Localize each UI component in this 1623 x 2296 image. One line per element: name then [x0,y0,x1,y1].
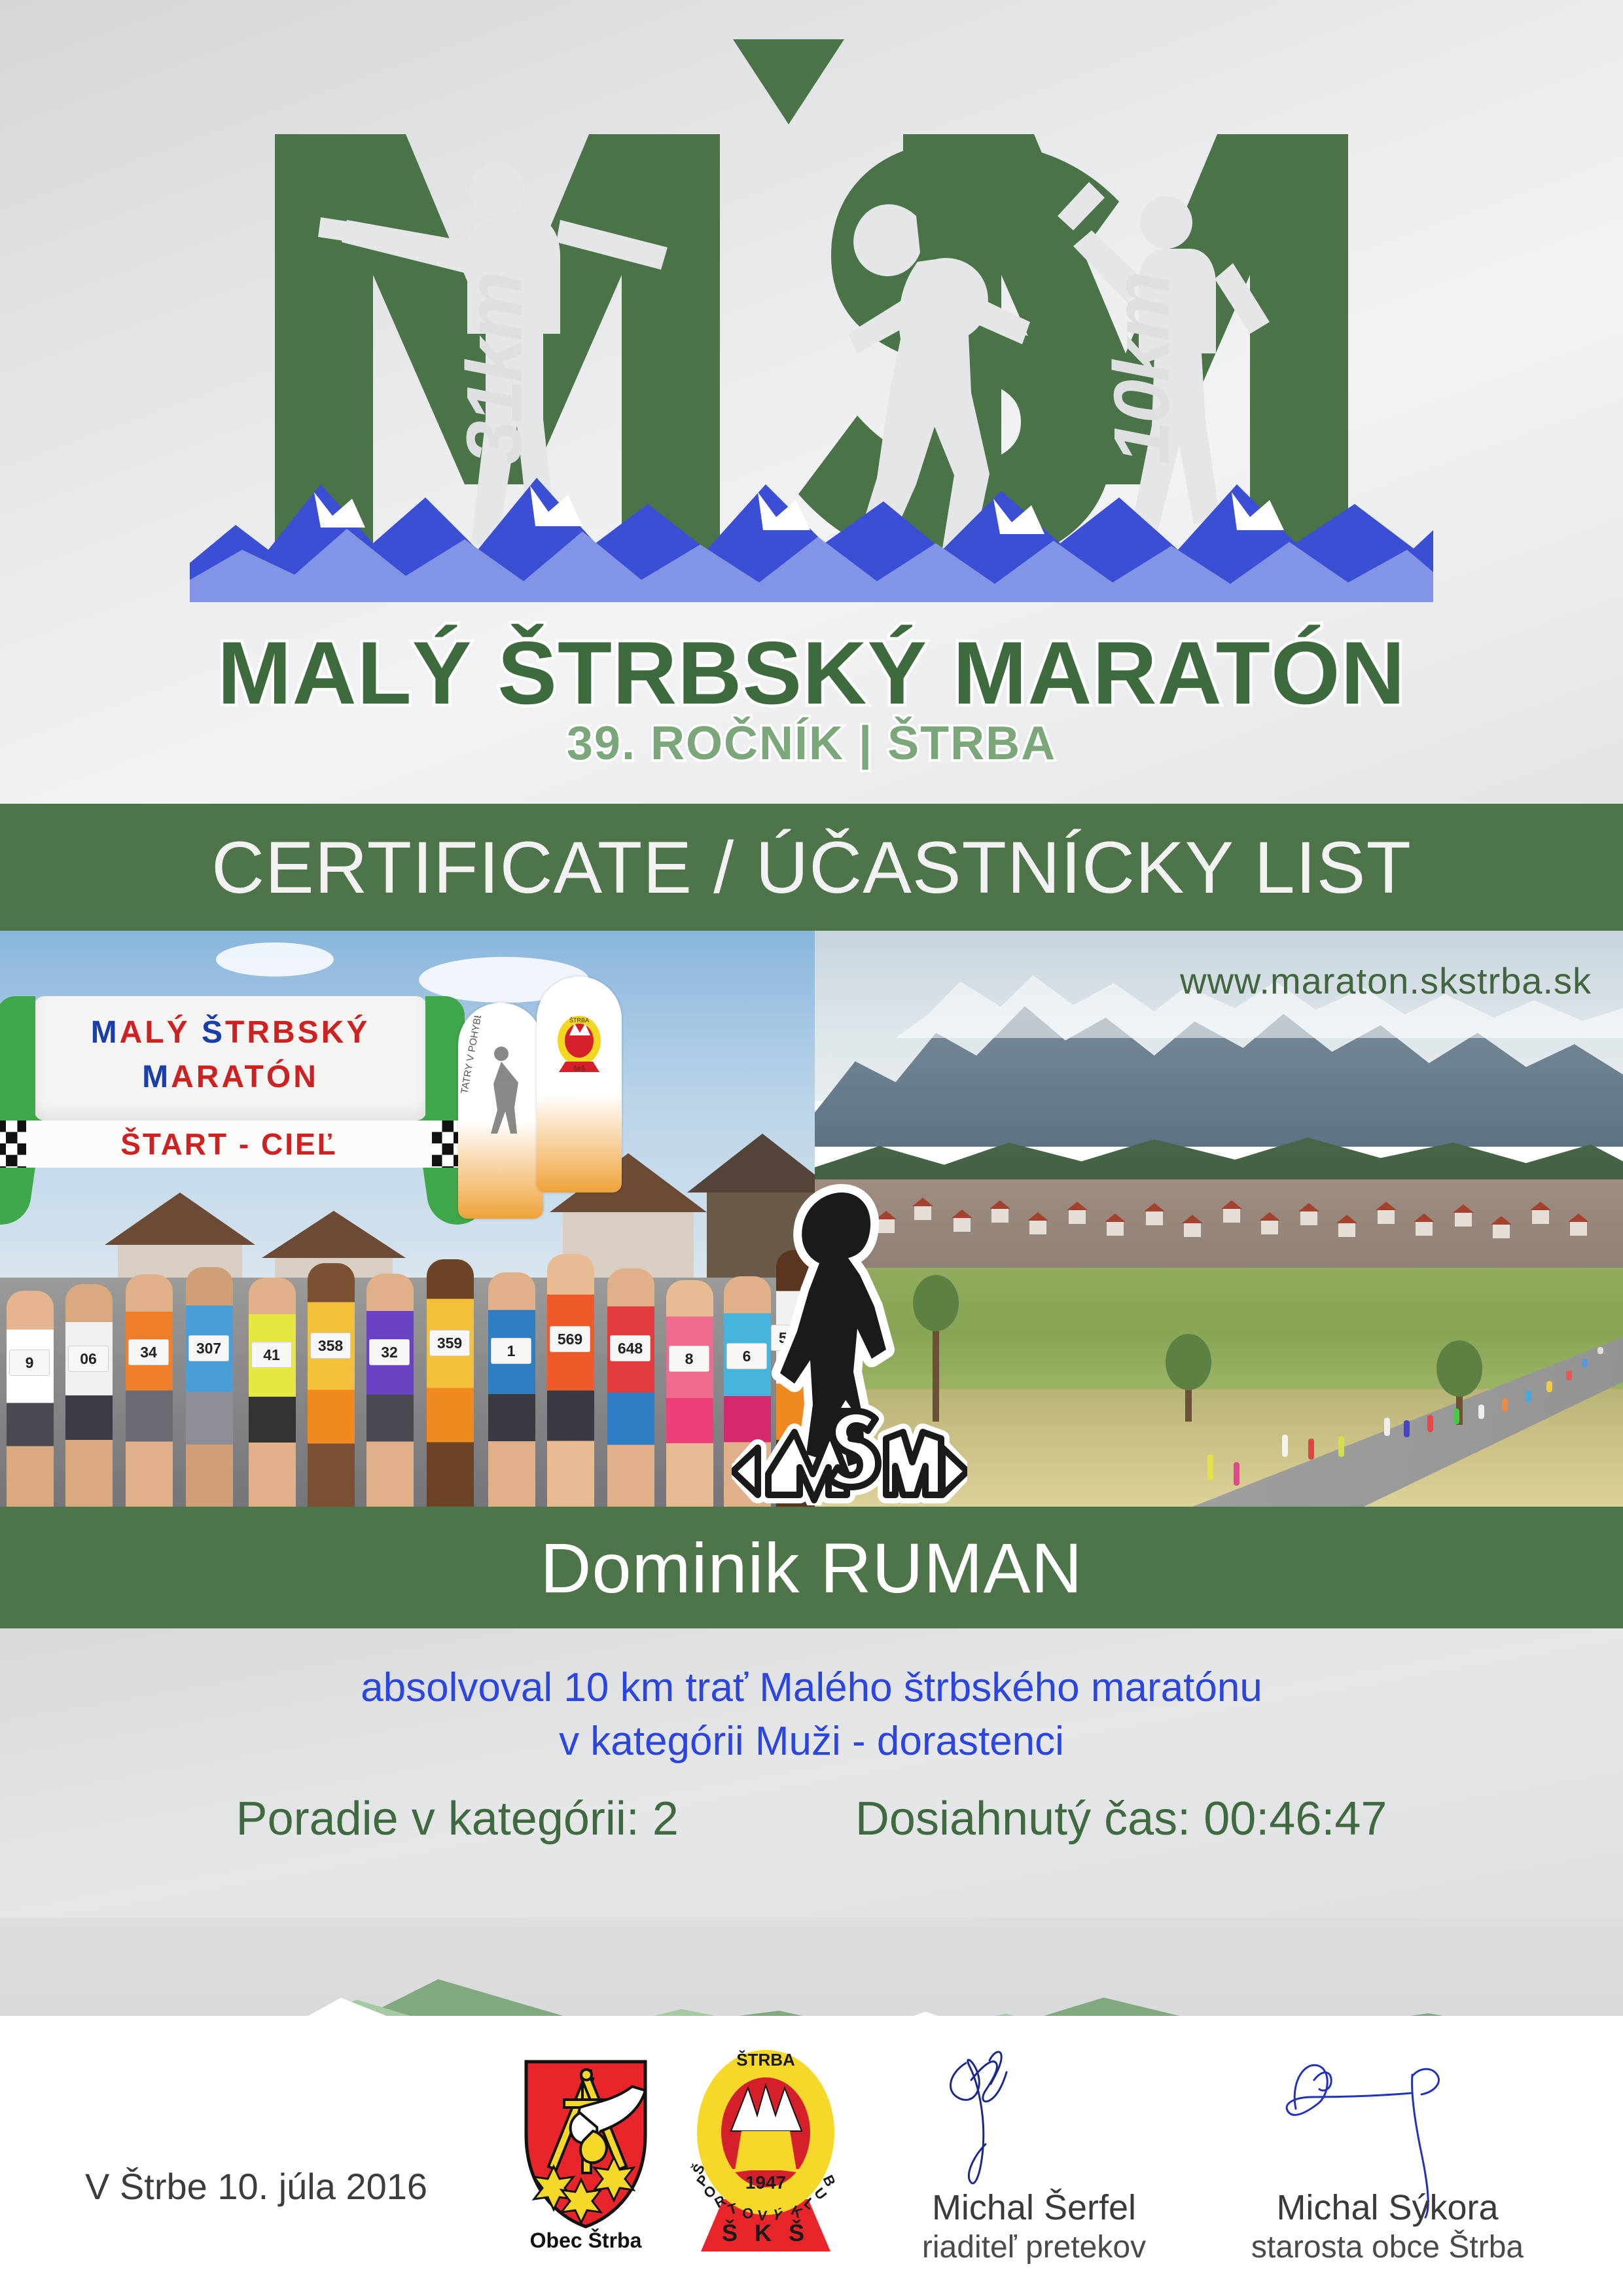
sks-club-logo: ŠTRBA 1947 Š P O R T O V Ý K L U B Š K Š [684,2047,847,2257]
sks-mini-logo: ŠTRBA ŠKŠ [555,1013,603,1073]
runner [1546,1381,1552,1392]
signature-name: Michal Sýkora [1204,2187,1571,2228]
msm-logo: 31km 10km [190,26,1433,602]
msm-badge-svg [732,1178,967,1505]
website-url: www.maraton.skstrba.sk [1180,960,1592,1002]
certificate-title: CERTIFICATE / ÚČASTNÍCKY LIST [211,825,1412,910]
bib-number: 648 [610,1335,651,1361]
place-and-date: V Štrbe 10. júla 2016 [85,2165,427,2208]
bib-number: 569 [550,1326,590,1352]
finish-time: Dosiahnutý čas: 00:46:47 [855,1792,1387,1846]
distance-right-label: 10km [1097,274,1187,465]
participant-name-band: Dominik RUMAN [0,1507,1623,1628]
event-edition: 39. ROČNÍK | ŠTRBA [0,717,1623,770]
obec-strba-emblem: Obec Štrba [517,2056,668,2253]
description-line-2: v kategórii Muži - dorastenci [0,1715,1623,1768]
runner [1384,1418,1390,1436]
achievement-description: absolvoval 10 km trať Malého štrbského m… [0,1661,1623,1768]
bib-number: 358 [310,1333,351,1359]
bib-number: 32 [369,1339,410,1365]
sks-top-label: ŠTRBA [736,2050,795,2070]
arch-banner: MALÝ ŠTRBSKÝ MARATÓN [34,996,427,1121]
start-arch: MALÝ ŠTRBSKÝ MARATÓN ŠTART - CIEĽ [0,990,478,1206]
signature-role: riaditeľ pretekov [851,2229,1217,2265]
runner [1338,1436,1344,1457]
svg-text:TATRY V POHYBE: TATRY V POHYBE [459,1016,484,1095]
signature-name: Michal Šerfel [851,2187,1217,2228]
signature-role: starosta obce Štrba [1204,2229,1571,2265]
signature-ink-1 [923,2043,1145,2194]
runner [1566,1371,1572,1380]
bush [1185,1382,1192,1422]
bib-number: 34 [128,1339,169,1365]
runner [1308,1439,1314,1460]
beach-flag-sks: ŠTRBA ŠKŠ [537,977,622,1193]
runner [1525,1390,1531,1403]
beach-flag-tatry: TATRY V POHYBE [458,1003,543,1219]
certificate-page: 31km 10km MALÝ ŠTRBSKÝ MARATÓN 39. ROČNÍ… [0,0,1623,2296]
bib-number: 41 [251,1342,292,1368]
category-rank: Poradie v kategórii: 2 [236,1792,679,1846]
bib-number: 9 [9,1350,50,1376]
runner [1502,1398,1508,1412]
runner-pack: 9 06 34 307 41 358 32 359 1 569 [0,1225,815,1507]
cloud [216,942,334,977]
msm-runner-badge [732,1178,967,1505]
runner [1404,1420,1410,1437]
event-wordmark: MALÝ ŠTRBSKÝ MARATÓN [0,622,1623,724]
distance-left-label: 31km [449,274,539,465]
runner [1454,1408,1459,1424]
photo-start-line: MALÝ ŠTRBSKÝ MARATÓN ŠTART - CIEĽ [0,931,815,1507]
runner [1234,1462,1240,1486]
bib-number: 1 [491,1338,531,1364]
description-line-1: absolvoval 10 km trať Malého štrbského m… [0,1661,1623,1715]
obec-strba-label: Obec Štrba [530,2229,642,2252]
runner [1207,1454,1213,1480]
runner [1478,1405,1484,1419]
sks-club-emblem: ŠTRBA 1947 Š P O R T O V Ý K L U B Š K Š [684,2047,847,2257]
results-row: Poradie v kategórii: 2 Dosiahnutý čas: 0… [0,1792,1623,1846]
runner [1427,1415,1433,1432]
sks-year-label: 1947 [745,2172,786,2193]
bib-number: 06 [68,1346,109,1372]
arch-line-1: MALÝ ŠTRBSKÝ [34,1014,427,1050]
start-finish-text: ŠTART - CIEĽ [120,1126,338,1162]
bib-number: 307 [188,1335,229,1361]
obec-strba-coat-of-arms: Obec Štrba [517,2056,668,2253]
arch-line-2: MARATÓN [34,1059,427,1095]
bib-number: 8 [669,1346,709,1372]
checker-flag-left [0,1121,29,1168]
sks-base-label: Š K Š [722,2219,810,2246]
certificate-title-band: CERTIFICATE / ÚČASTNÍCKY LIST [0,804,1623,931]
msm-logo-svg [190,26,1433,602]
header-logo-area: 31km 10km MALÝ ŠTRBSKÝ MARATÓN 39. ROČNÍ… [0,0,1623,806]
svg-text:ŠKŠ: ŠKŠ [573,1066,585,1072]
participant-name: Dominik RUMAN [540,1527,1082,1609]
svg-text:ŠTRBA: ŠTRBA [569,1017,589,1024]
runner [1597,1347,1603,1354]
start-finish-banner: ŠTART - CIEĽ [26,1121,432,1168]
footer: V Štrbe 10. júla 2016 [0,2016,1623,2296]
runner [1582,1359,1588,1367]
bib-number: 359 [429,1330,470,1356]
runner [1282,1435,1288,1457]
